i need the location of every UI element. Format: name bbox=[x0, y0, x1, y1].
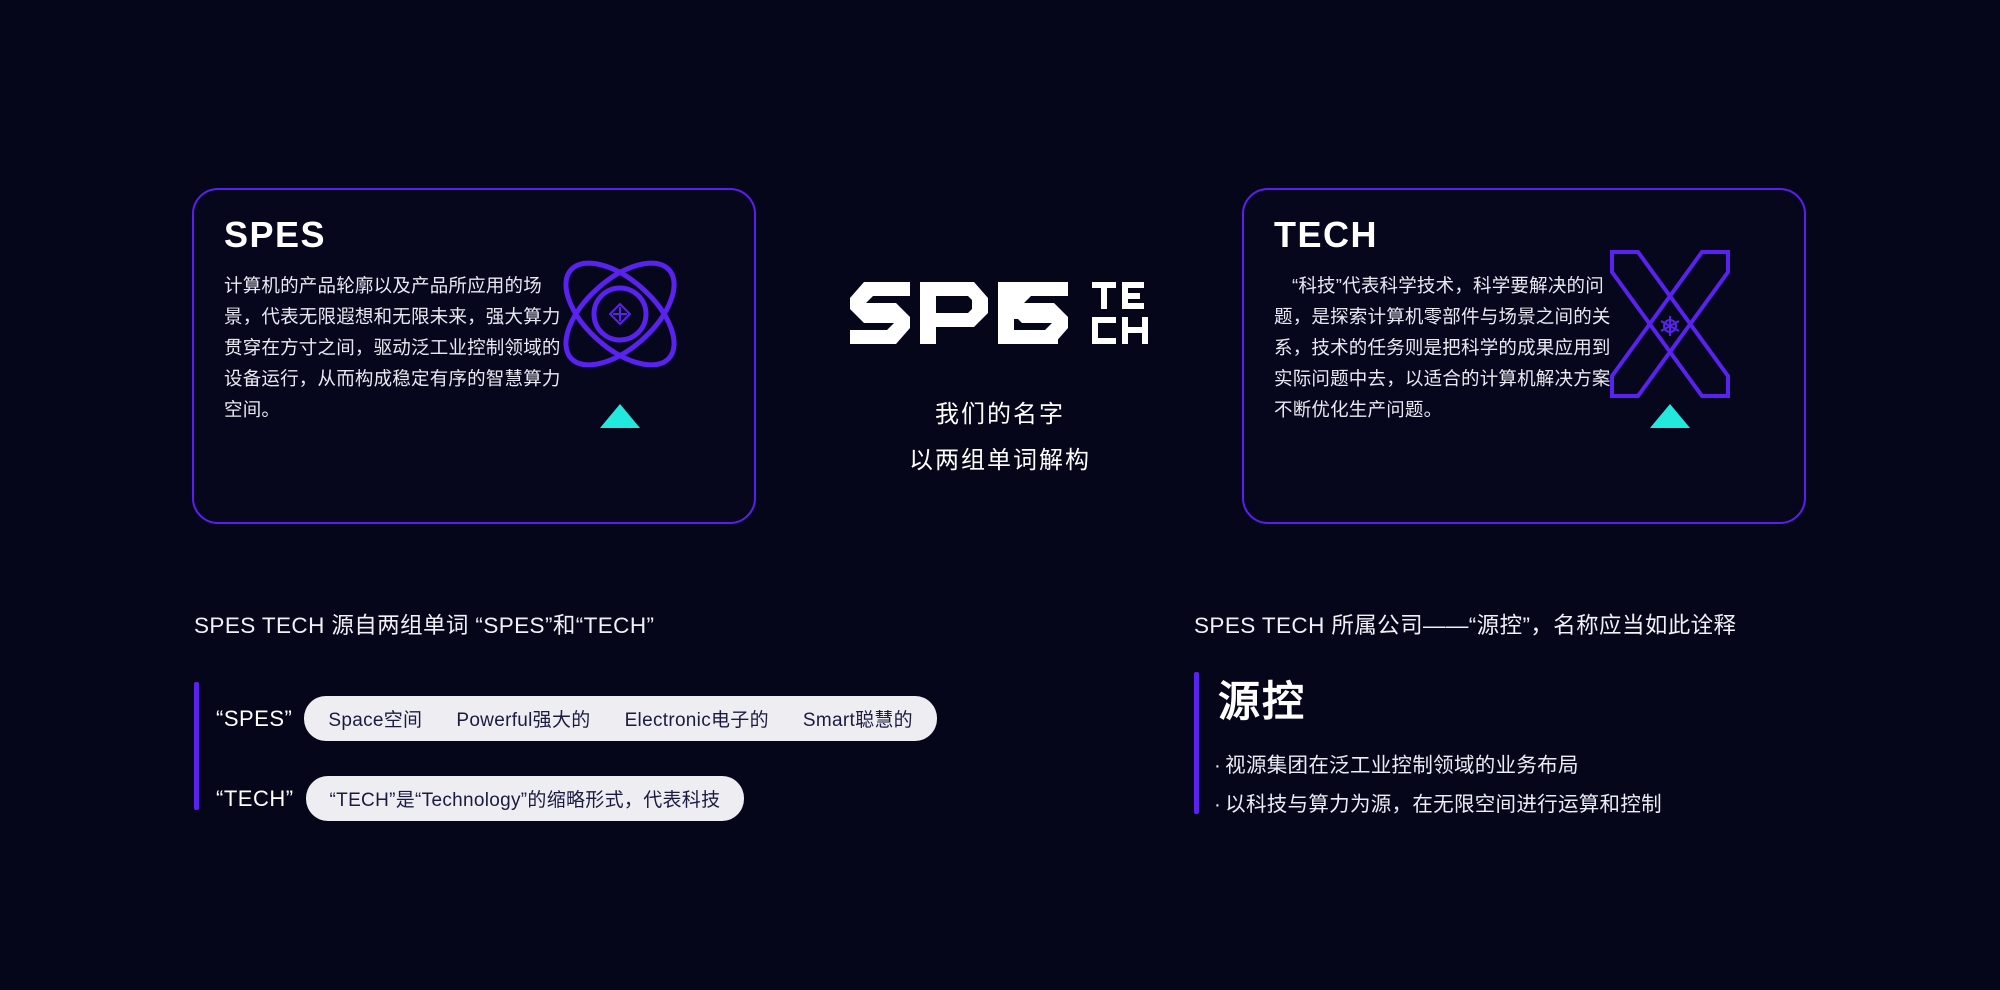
chip-space: Space空间 bbox=[328, 705, 422, 732]
list-item: ·视源集团在泛工业控制领域的业务布局 bbox=[1214, 746, 1662, 785]
bullet-text: 以科技与算力为源，在无限空间进行运算和控制 bbox=[1225, 793, 1662, 816]
tagline-line-2: 以两组单词解构 bbox=[790, 438, 1210, 484]
right-section-heading: SPES TECH 所属公司——“源控”，名称应当如此诠释 bbox=[1194, 608, 1736, 640]
card-tech-title: TECH bbox=[1274, 214, 1378, 256]
spes-wordmark-icon bbox=[850, 282, 1078, 344]
left-section-heading: SPES TECH 源自两组单词 “SPES”和“TECH” bbox=[194, 608, 654, 640]
brand-name-yuankong: 源控 bbox=[1218, 668, 1306, 729]
card-tech-body: “科技”代表科学技术，科学要解决的问题，是探索计算机零部件与场景之间的关系，技术… bbox=[1274, 270, 1624, 425]
right-accent-bar bbox=[1194, 672, 1199, 814]
bullet-dot-icon: · bbox=[1214, 793, 1221, 816]
teal-triangle-icon bbox=[1650, 404, 1690, 428]
atom-orbit-icon bbox=[542, 238, 732, 458]
word-row-tech: “TECH” “TECH”是“Technology”的缩略形式，代表科技 bbox=[216, 776, 744, 821]
chip-powerful: Powerful强大的 bbox=[456, 705, 590, 732]
center-logo-block: 我们的名字 以两组单词解构 bbox=[790, 282, 1210, 484]
row-label-tech: “TECH” bbox=[216, 786, 294, 812]
pill-spes-words: Space空间Powerful强大的Electronic电子的Smart聪慧的 bbox=[304, 696, 937, 741]
list-item: ·以科技与算力为源，在无限空间进行运算和控制 bbox=[1214, 785, 1662, 824]
left-accent-bar bbox=[194, 682, 199, 810]
tech-suffix-icon bbox=[1092, 282, 1150, 344]
bullet-dot-icon: · bbox=[1214, 754, 1221, 777]
row-label-spes: “SPES” bbox=[216, 706, 292, 732]
bullet-text: 视源集团在泛工业控制领域的业务布局 bbox=[1225, 754, 1579, 777]
tagline-line-1: 我们的名字 bbox=[790, 392, 1210, 438]
chip-electronic: Electronic电子的 bbox=[625, 705, 769, 732]
x-mark-icon bbox=[1592, 238, 1782, 458]
chip-technology: “TECH”是“Technology”的缩略形式，代表科技 bbox=[330, 785, 721, 812]
card-tech: TECH “科技”代表科学技术，科学要解决的问题，是探索计算机零部件与场景之间的… bbox=[1242, 188, 1806, 524]
poster-canvas: SPES 计算机的产品轮廓以及产品所应用的场景，代表无限遐想和无限未来，强大算力… bbox=[0, 0, 2000, 990]
pill-tech-words: “TECH”是“Technology”的缩略形式，代表科技 bbox=[306, 776, 745, 821]
spes-tech-logo bbox=[790, 282, 1210, 344]
teal-triangle-icon bbox=[600, 404, 640, 428]
word-row-spes: “SPES” Space空间Powerful强大的Electronic电子的Sm… bbox=[216, 696, 937, 741]
card-spes: SPES 计算机的产品轮廓以及产品所应用的场景，代表无限遐想和无限未来，强大算力… bbox=[192, 188, 756, 524]
chip-smart: Smart聪慧的 bbox=[803, 705, 913, 732]
right-bullet-list: ·视源集团在泛工业控制领域的业务布局 ·以科技与算力为源，在无限空间进行运算和控… bbox=[1214, 746, 1662, 824]
card-spes-title: SPES bbox=[224, 214, 326, 256]
card-spes-body: 计算机的产品轮廓以及产品所应用的场景，代表无限遐想和无限未来，强大算力贯穿在方寸… bbox=[224, 270, 574, 425]
